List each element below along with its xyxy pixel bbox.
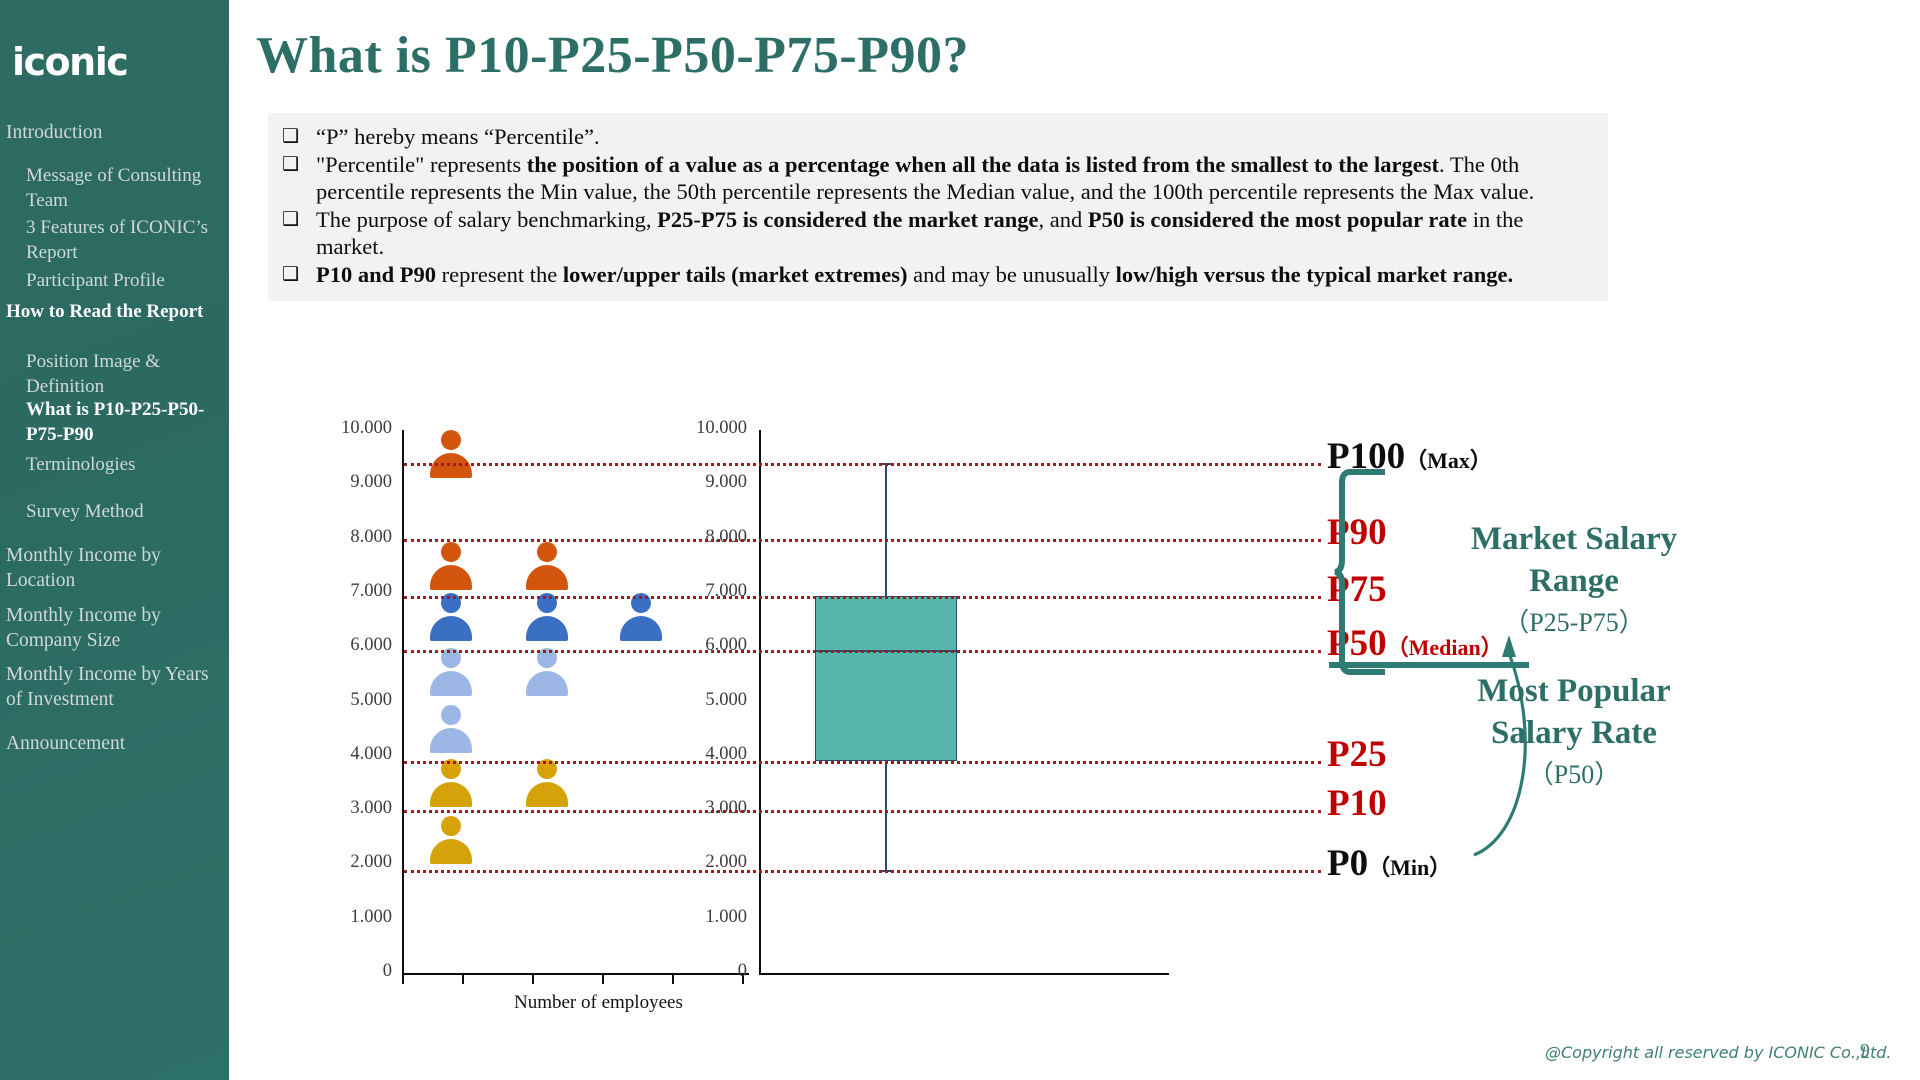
x-tick [602, 975, 604, 984]
description-box: ❑“P” hereby means “Percentile”.❑"Percent… [268, 113, 1608, 301]
sidebar-item-how-to-read-the-report[interactable]: How to Read the Report [6, 299, 221, 324]
copyright-footer: @Copyright all reserved by ICONIC Co.,Lt… [1545, 1043, 1891, 1062]
person-head [537, 542, 557, 562]
person-head [441, 430, 461, 450]
percentile-line-p25 [404, 761, 1321, 764]
popular-sub: （P50） [1424, 754, 1724, 796]
sidebar-item-monthly-income-by-location[interactable]: Monthly Income by Location [6, 543, 221, 593]
market-salary-range-annotation: Market Salary Range （P25-P75） [1424, 518, 1724, 644]
sidebar-item-what-is-p10-p25-p50-p75-p90[interactable]: What is P10-P25-P50-P75-P90 [26, 397, 211, 447]
person-head [441, 816, 461, 836]
checkbox-bullet-icon: ❑ [282, 261, 316, 288]
percentile-line-p50 [404, 650, 1321, 653]
sidebar-item-survey-method[interactable]: Survey Method [26, 499, 211, 524]
checkbox-bullet-icon: ❑ [282, 151, 316, 178]
person-icon [430, 542, 472, 590]
most-popular-rate-annotation: Most Popular Salary Rate （P50） [1424, 670, 1724, 796]
popular-line1: Most Popular [1424, 670, 1724, 712]
x-tick [462, 975, 464, 984]
y-tick-label: 8.000 [683, 527, 747, 548]
person-icon [430, 593, 472, 641]
percentile-line-p100 [404, 463, 1321, 466]
market-range-line1: Market Salary [1424, 518, 1724, 560]
person-body [430, 616, 472, 641]
right-x-axis [759, 973, 1169, 975]
person-body [430, 453, 472, 478]
percentile-line-p75 [404, 596, 1321, 599]
sidebar-item-3-features-of-iconic-s-report[interactable]: 3 Features of ICONIC’s Report [26, 215, 211, 265]
x-axis-label: Number of employees [514, 992, 683, 1014]
sidebar-item-position-image-definition[interactable]: Position Image & Definition [26, 349, 211, 399]
y-tick-label: 7.000 [683, 581, 747, 602]
brand-logo: iconic [12, 40, 127, 84]
y-tick-label: 8.000 [328, 527, 392, 548]
person-icon [430, 648, 472, 696]
person-icon [620, 593, 662, 641]
person-icon [430, 816, 472, 864]
popular-line2: Salary Rate [1424, 712, 1724, 754]
y-tick-label: 0 [683, 961, 747, 982]
x-tick [402, 975, 404, 984]
y-tick-label: 10.000 [328, 418, 392, 439]
x-tick [532, 975, 534, 984]
y-tick-label: 6.000 [683, 635, 747, 656]
y-tick-label: 5.000 [683, 690, 747, 711]
bullet-text: "Percentile" represents the position of … [316, 151, 1594, 205]
person-icon [430, 430, 472, 478]
sidebar-item-introduction[interactable]: Introduction [6, 120, 221, 145]
bullet-item: ❑“P” hereby means “Percentile”. [282, 123, 1594, 150]
bullet-item: ❑The purpose of salary benchmarking, P25… [282, 206, 1594, 260]
person-icon [526, 759, 568, 807]
curly-brace-icon [1334, 470, 1404, 675]
checkbox-bullet-icon: ❑ [282, 123, 316, 150]
chart-area: 01.0002.0003.0004.0005.0006.0007.0008.00… [229, 430, 1920, 1030]
y-tick-label: 5.000 [328, 690, 392, 711]
y-tick-label: 3.000 [328, 798, 392, 819]
y-tick-label: 0 [328, 961, 392, 982]
y-tick-label: 1.000 [328, 907, 392, 928]
y-tick-label: 7.000 [328, 581, 392, 602]
person-body [430, 839, 472, 864]
person-body [430, 782, 472, 807]
person-body [526, 616, 568, 641]
market-range-sub: （P25-P75） [1424, 602, 1724, 644]
right-y-axis [759, 430, 761, 975]
page-number: 9 [1860, 1040, 1870, 1063]
bullet-text: “P” hereby means “Percentile”. [316, 123, 1594, 150]
x-tick [672, 975, 674, 984]
bullet-item: ❑"Percentile" represents the position of… [282, 151, 1594, 205]
person-icon [430, 705, 472, 753]
y-tick-label: 3.000 [683, 798, 747, 819]
y-tick-label: 4.000 [328, 744, 392, 765]
person-body [430, 728, 472, 753]
person-body [526, 671, 568, 696]
person-icon [430, 759, 472, 807]
person-body [430, 671, 472, 696]
boxplot-lower-whisker [885, 761, 887, 870]
person-icon [526, 648, 568, 696]
person-icon [526, 593, 568, 641]
person-head [441, 705, 461, 725]
person-body [526, 782, 568, 807]
sidebar-item-announcement[interactable]: Announcement [6, 731, 221, 756]
sidebar: iconic IntroductionMessage of Consulting… [0, 0, 229, 1080]
person-icon [526, 542, 568, 590]
boxplot-box [815, 596, 957, 762]
percentile-line-p90 [404, 539, 1321, 542]
percentile-label-sub: （Max） [1405, 448, 1492, 473]
y-tick-label: 9.000 [328, 472, 392, 493]
bullet-text: The purpose of salary benchmarking, P25-… [316, 206, 1594, 260]
boxplot-upper-whisker [885, 463, 887, 596]
sidebar-item-monthly-income-by-years-of-investment[interactable]: Monthly Income by Years of Investment [6, 662, 221, 712]
bullet-item: ❑P10 and P90 represent the lower/upper t… [282, 261, 1594, 288]
sidebar-item-terminologies[interactable]: Terminologies [26, 452, 211, 477]
market-range-line2: Range [1424, 560, 1724, 602]
y-tick-label: 1.000 [683, 907, 747, 928]
person-body [620, 616, 662, 641]
sidebar-item-participant-profile[interactable]: Participant Profile [26, 268, 211, 293]
boxplot: 01.0002.0003.0004.0005.0006.0007.0008.00… [759, 430, 1179, 985]
y-tick-label: 2.000 [328, 852, 392, 873]
page-title: What is P10-P25-P50-P75-P90? [256, 26, 969, 85]
left-y-axis [402, 430, 404, 975]
sidebar-item-monthly-income-by-company-size[interactable]: Monthly Income by Company Size [6, 603, 221, 653]
y-tick-label: 10.000 [683, 418, 747, 439]
y-tick-label: 9.000 [683, 472, 747, 493]
checkbox-bullet-icon: ❑ [282, 206, 316, 233]
sidebar-item-message-of-consulting-team[interactable]: Message of Consulting Team [26, 163, 211, 213]
bullet-text: P10 and P90 represent the lower/upper ta… [316, 261, 1594, 288]
percentile-line-p10 [404, 810, 1321, 813]
y-tick-label: 6.000 [328, 635, 392, 656]
person-head [441, 542, 461, 562]
person-body [430, 565, 472, 590]
slide-root: iconic IntroductionMessage of Consulting… [0, 0, 1920, 1080]
person-body [526, 565, 568, 590]
percentile-line-p0 [404, 870, 1321, 873]
